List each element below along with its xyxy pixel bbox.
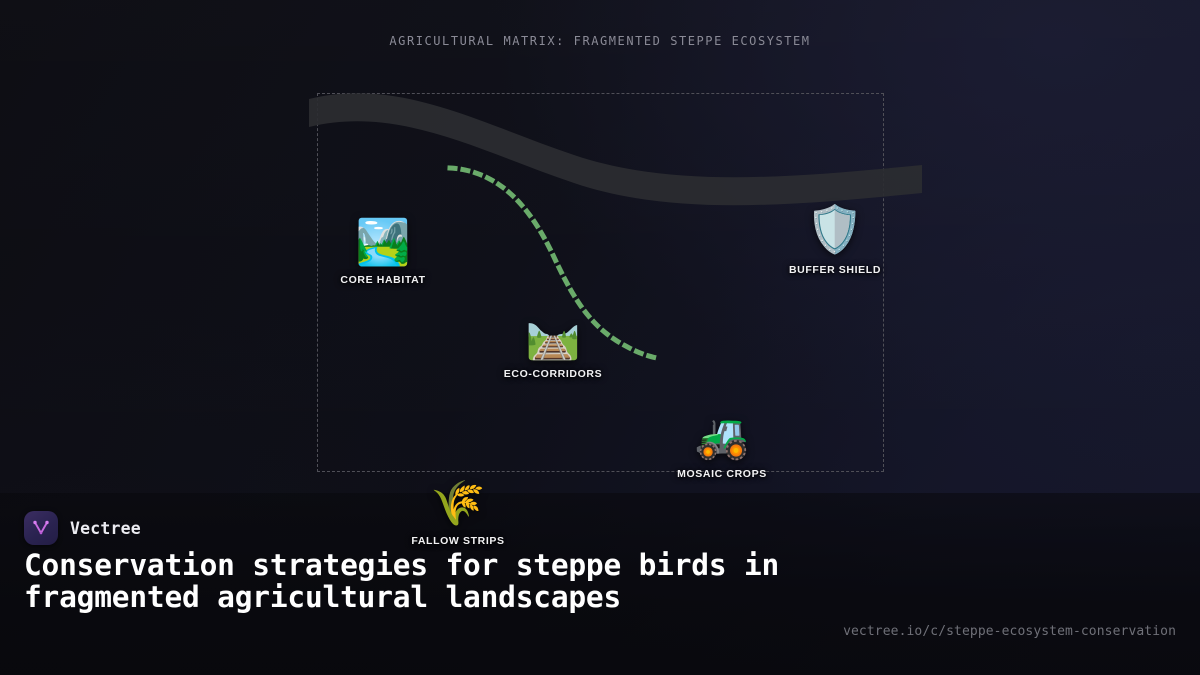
node-fallow-strips[interactable]: 🌾 FALLOW STRIPS: [378, 482, 538, 547]
page-headline: Conservation strategies for steppe birds…: [24, 550, 814, 613]
node-label-mosaic-crops: MOSAIC CROPS: [677, 468, 767, 480]
sheaf-of-rice-icon: 🌾: [431, 482, 486, 526]
node-core-habitat[interactable]: 🏞️ CORE HABITAT: [303, 221, 463, 286]
node-label-fallow-strips: FALLOW STRIPS: [411, 535, 504, 547]
page-url: vectree.io/c/steppe-ecosystem-conservati…: [843, 624, 1176, 639]
diagram-title: AGRICULTURAL MATRIX: FRAGMENTED STEPPE E…: [0, 34, 1200, 48]
national-park-icon: 🏞️: [356, 221, 411, 265]
tractor-icon: 🚜: [695, 415, 750, 459]
node-label-core-habitat: CORE HABITAT: [340, 274, 425, 286]
logo-glyph: [30, 517, 52, 539]
brand-name: Vectree: [70, 519, 141, 538]
diagram-canvas: 🏞️ CORE HABITAT 🛡️ BUFFER SHIELD 🛤️ ECO-…: [317, 93, 884, 472]
node-mosaic-crops[interactable]: 🚜 MOSAIC CROPS: [642, 415, 802, 480]
railway-track-icon: 🛤️: [526, 315, 581, 359]
vectree-logo-icon: [24, 511, 58, 545]
node-label-buffer-shield: BUFFER SHIELD: [789, 264, 881, 276]
node-eco-corridors[interactable]: 🛤️ ECO-CORRIDORS: [473, 315, 633, 380]
node-buffer-shield[interactable]: 🛡️ BUFFER SHIELD: [745, 206, 925, 276]
node-label-eco-corridors: ECO-CORRIDORS: [504, 368, 602, 380]
brand-row[interactable]: Vectree: [24, 511, 141, 545]
shield-icon: 🛡️: [806, 206, 863, 252]
